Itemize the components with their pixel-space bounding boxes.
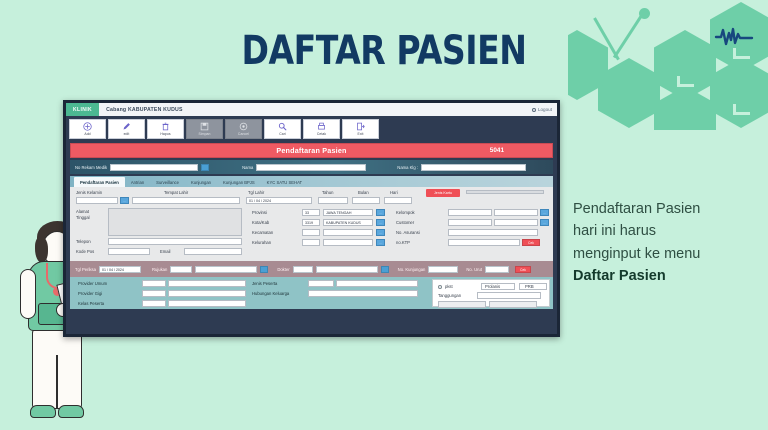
no-urut-input[interactable]	[485, 266, 509, 273]
kelompok-code-input[interactable]	[448, 209, 492, 216]
record-counter: 5041	[490, 147, 504, 154]
nama-input[interactable]	[256, 164, 366, 171]
browse-label: ...	[541, 220, 548, 227]
ktp-cek-button[interactable]: Cek	[522, 239, 540, 246]
tempat-lahir-label: Tempat Lahir	[164, 190, 188, 195]
jenis-kelamin-browse-button[interactable]: ...	[120, 197, 129, 204]
toolbar-button-simpan[interactable]: Simpan	[186, 119, 223, 139]
hari-input[interactable]	[384, 197, 412, 204]
app-topbar: KLINIK Cabang KABUPATEN KUDUS Logout	[66, 103, 557, 116]
flags-box: pkst Prolanis PRB Tanggungan	[432, 279, 550, 307]
caption-text: Pendaftaran Pasien hari ini harus mengin…	[573, 198, 763, 288]
form-title: Pendaftaran Pasien	[71, 146, 552, 155]
no-rekam-medik-input[interactable]	[110, 164, 198, 171]
provinsi-name-input[interactable]: JAWA TENGAH	[323, 209, 373, 216]
nama-label: Nama	[242, 165, 253, 170]
visit-strip: Tgl Periksa 01 / 04 / 2024 Rujukan Dokte…	[70, 261, 553, 277]
trash-icon	[161, 122, 170, 131]
dokter-code-input[interactable]	[293, 266, 313, 273]
rujukan-code-input[interactable]	[170, 266, 192, 273]
provider-gigi-label: Provider Gigi	[78, 291, 102, 296]
jenis-kelamin-input[interactable]	[76, 197, 118, 204]
browse-label: ...	[377, 220, 384, 227]
dokter-label: Dokter	[277, 267, 289, 272]
no-ktp-label: no.KTP	[396, 240, 410, 245]
no-rekam-medik-label: No Rekam Medik	[75, 165, 107, 170]
logout-label: Logout	[538, 107, 552, 112]
toolbar-label: edit	[124, 132, 130, 136]
tahun-input[interactable]	[318, 197, 348, 204]
toolbar-button-cancel[interactable]: Cancel	[225, 119, 262, 139]
provider-umum-code-input[interactable]	[142, 280, 166, 287]
no-urut-label: No. Urut	[466, 267, 482, 272]
provider-umum-label: Provider Umum	[78, 281, 107, 286]
cancel-circle-icon	[239, 122, 248, 131]
no-kunjungan-label: No. Kunjungan	[398, 267, 426, 272]
browse-label: ...	[121, 198, 128, 205]
customer-label: Customer	[396, 220, 414, 225]
toolbar-button-hapus[interactable]: Hapus	[147, 119, 184, 139]
nama-klg-input[interactable]	[421, 164, 526, 171]
save-disk-icon	[200, 122, 209, 131]
jenis-peserta-name-input[interactable]	[336, 280, 418, 287]
telepon-input[interactable]	[108, 238, 242, 245]
provider-umum-name-input[interactable]	[168, 280, 246, 287]
tanggungan-input[interactable]	[477, 292, 541, 299]
tgl-periksa-label: Tgl Periksa	[75, 267, 96, 272]
browse-label: ...	[377, 240, 384, 247]
form-panel: Jenis Kelamin Tempat Lahir Tgl Lahir Tah…	[70, 187, 553, 309]
no-ktp-input[interactable]	[448, 239, 520, 246]
magnifier-icon	[278, 122, 287, 131]
email-label: Email	[160, 249, 170, 254]
form-header-bar: Pendaftaran Pasien 5041	[70, 143, 553, 158]
caption-line-2: hari ini harus	[573, 220, 763, 242]
prb-label: PRB	[525, 284, 534, 289]
provinsi-label: Provinsi	[252, 210, 267, 215]
tinggal-label: Tinggal	[76, 215, 90, 220]
rujukan-browse-button[interactable]	[260, 266, 268, 273]
jenis-kartu-label: Jenis Kartu	[426, 189, 460, 197]
toolbar: Add edit Hapus Simpan Cancel	[66, 116, 557, 143]
toolbar-label: Add	[84, 132, 90, 136]
hexagon-notch	[733, 104, 750, 115]
kota-code-input[interactable]: 3319	[302, 219, 320, 226]
bulan-label: Bulan	[358, 190, 369, 195]
kelas-peserta-label: Kelas Peserta	[78, 301, 104, 306]
tanggungan-label: Tanggungan	[438, 293, 461, 298]
kelompok-label: Kelompok	[396, 210, 415, 215]
customer-browse-button[interactable]: ...	[540, 219, 549, 226]
customer-name-input[interactable]	[494, 219, 538, 226]
toolbar-button-cetak[interactable]: Cetak	[303, 119, 340, 139]
prolanis-label: Prolanis	[485, 284, 500, 289]
pkst-radio[interactable]	[438, 285, 442, 289]
toolbar-label: Cetak	[317, 132, 326, 136]
caption-line-1: Pendaftaran Pasien	[573, 198, 763, 220]
flags-extra-input-2[interactable]	[489, 301, 537, 308]
rujukan-name-input[interactable]	[195, 266, 257, 273]
patient-detail-section: Jenis Kelamin Tempat Lahir Tgl Lahir Tah…	[70, 187, 553, 261]
jenis-peserta-code-input[interactable]	[308, 280, 334, 287]
molecule-dot	[639, 8, 650, 19]
no-rekam-medik-search-button[interactable]	[201, 164, 209, 171]
hubungan-keluarga-label: Hubungan Keluarga	[252, 291, 289, 296]
tempat-lahir-input[interactable]	[132, 197, 240, 204]
rujukan-label: Rujukan	[152, 267, 167, 272]
printer-icon	[317, 122, 326, 131]
no-asuransi-label: No. Asuransi	[396, 230, 420, 235]
tab-bar: Pendaftaran Pasien Antrian Surveillance …	[70, 176, 553, 187]
toolbar-button-add[interactable]: Add	[69, 119, 106, 139]
exit-door-icon	[356, 122, 365, 131]
tgl-lahir-label: Tgl Lahir	[248, 190, 264, 195]
application-window: KLINIK Cabang KABUPATEN KUDUS Logout Add…	[63, 100, 560, 337]
alamat-textarea[interactable]	[108, 208, 242, 236]
kelas-peserta-name-input[interactable]	[168, 300, 246, 307]
toolbar-button-edit[interactable]: edit	[108, 119, 145, 139]
provinsi-browse-button[interactable]: ...	[376, 209, 385, 216]
provinsi-code-input[interactable]: 33	[302, 209, 320, 216]
toolbar-button-cari[interactable]: Cari	[264, 119, 301, 139]
page-title: DAFTAR PASIEN	[31, 28, 738, 74]
caption-line-3: menginput ke menu	[573, 243, 763, 265]
provider-gigi-code-input[interactable]	[142, 290, 166, 297]
tgl-periksa-input[interactable]: 01 / 04 / 2024	[99, 266, 141, 273]
visit-cek-label: Cek	[516, 267, 530, 274]
tab-kunjungan-bpjs[interactable]: Kunjungan BPJS	[217, 177, 261, 187]
nurse-shoe	[58, 405, 84, 418]
email-input[interactable]	[184, 248, 242, 255]
logout-button[interactable]: Logout	[532, 107, 552, 112]
kelompok-browse-button[interactable]: ...	[540, 209, 549, 216]
browse-label: ...	[377, 230, 384, 237]
kode-pos-label: Kode Pos	[76, 249, 94, 254]
power-icon	[532, 108, 536, 112]
kelurahan-code-input[interactable]	[302, 239, 320, 246]
provider-gigi-name-input[interactable]	[168, 290, 246, 297]
tab-kyc-satu-sehat[interactable]: KYC SATU SEHAT	[261, 177, 308, 187]
kota-label: Kota/Kab	[252, 220, 269, 225]
nurse-leg-split	[56, 355, 58, 409]
toolbar-button-exit[interactable]: Exit	[342, 119, 379, 139]
toolbar-label: Hapus	[160, 132, 170, 136]
hexagon-notch	[677, 76, 694, 87]
hari-label: Hari	[390, 190, 398, 195]
kecamatan-code-input[interactable]	[302, 229, 320, 236]
no-asuransi-input[interactable]	[448, 229, 538, 236]
caption-emphasis: Daftar Pasien	[573, 268, 666, 284]
kota-browse-button[interactable]: ...	[376, 219, 385, 226]
branch-label: Cabang KABUPATEN KUDUS	[106, 107, 183, 113]
pencil-icon	[122, 122, 131, 131]
nurse-arm	[20, 269, 36, 319]
nurse-shoe	[30, 405, 56, 418]
alamat-label: Alamat	[76, 209, 89, 214]
kelurahan-browse-button[interactable]: ...	[376, 239, 385, 246]
dokter-browse-button[interactable]	[381, 266, 389, 273]
toolbar-label: Exit	[357, 132, 363, 136]
browse-label: ...	[541, 210, 548, 217]
jenis-kartu-badge[interactable]: Jenis Kartu	[426, 189, 460, 197]
jenis-kelamin-label: Jenis Kelamin	[76, 190, 102, 195]
tahun-label: Tahun	[322, 190, 333, 195]
kelurahan-label: Kelurahan	[252, 240, 271, 245]
tab-antrian[interactable]: Antrian	[125, 177, 150, 187]
tab-pendaftaran-pasien[interactable]: Pendaftaran Pasien	[74, 177, 125, 187]
toolbar-label: Cari	[279, 132, 286, 136]
kecamatan-name-input[interactable]	[323, 229, 373, 236]
kelurahan-name-input[interactable]	[323, 239, 373, 246]
search-strip: No Rekam Medik Nama Nama Klg :	[70, 160, 553, 174]
plus-circle-icon	[83, 122, 92, 131]
no-kunjungan-input[interactable]	[428, 266, 458, 273]
browse-label: ...	[377, 210, 384, 217]
window-bottom-edge	[66, 309, 557, 313]
tgl-lahir-input[interactable]: 01 / 04 / 2024	[246, 197, 312, 204]
flags-extra-input-1[interactable]	[438, 301, 486, 308]
toolbar-label: Simpan	[198, 132, 210, 136]
pkst-label: pkst	[445, 284, 453, 289]
hubungan-keluarga-input[interactable]	[308, 290, 418, 297]
tab-surveillance[interactable]: Surveillance	[150, 177, 185, 187]
kota-name-input[interactable]: KABUPATEN KUDUS	[323, 219, 373, 226]
kecamatan-browse-button[interactable]: ...	[376, 229, 385, 236]
klinik-badge: KLINIK	[66, 103, 99, 116]
kelompok-name-input[interactable]	[494, 209, 538, 216]
ktp-cek-label: Cek	[523, 240, 539, 247]
bpjs-section: Provider Umum Provider Gigi Kelas Pesert…	[70, 277, 553, 309]
kelas-peserta-code-input[interactable]	[142, 300, 166, 307]
dokter-name-input[interactable]	[316, 266, 378, 273]
tab-kunjungan[interactable]: Kunjungan	[185, 177, 217, 187]
kecamatan-label: Kecamatan	[252, 230, 273, 235]
toolbar-label: Cancel	[238, 132, 249, 136]
hexagon-shape	[654, 86, 716, 130]
customer-code-input[interactable]	[448, 219, 492, 226]
nurse-hair-side	[35, 237, 48, 263]
nama-klg-label: Nama Klg :	[397, 165, 418, 170]
bulan-input[interactable]	[352, 197, 380, 204]
telepon-label: Telepon	[76, 239, 91, 244]
jenis-kartu-bar	[466, 190, 544, 194]
kode-pos-input[interactable]	[108, 248, 150, 255]
jenis-peserta-label: Jenis Peserta	[252, 281, 277, 286]
visit-cek-button[interactable]: Cek	[515, 266, 531, 273]
